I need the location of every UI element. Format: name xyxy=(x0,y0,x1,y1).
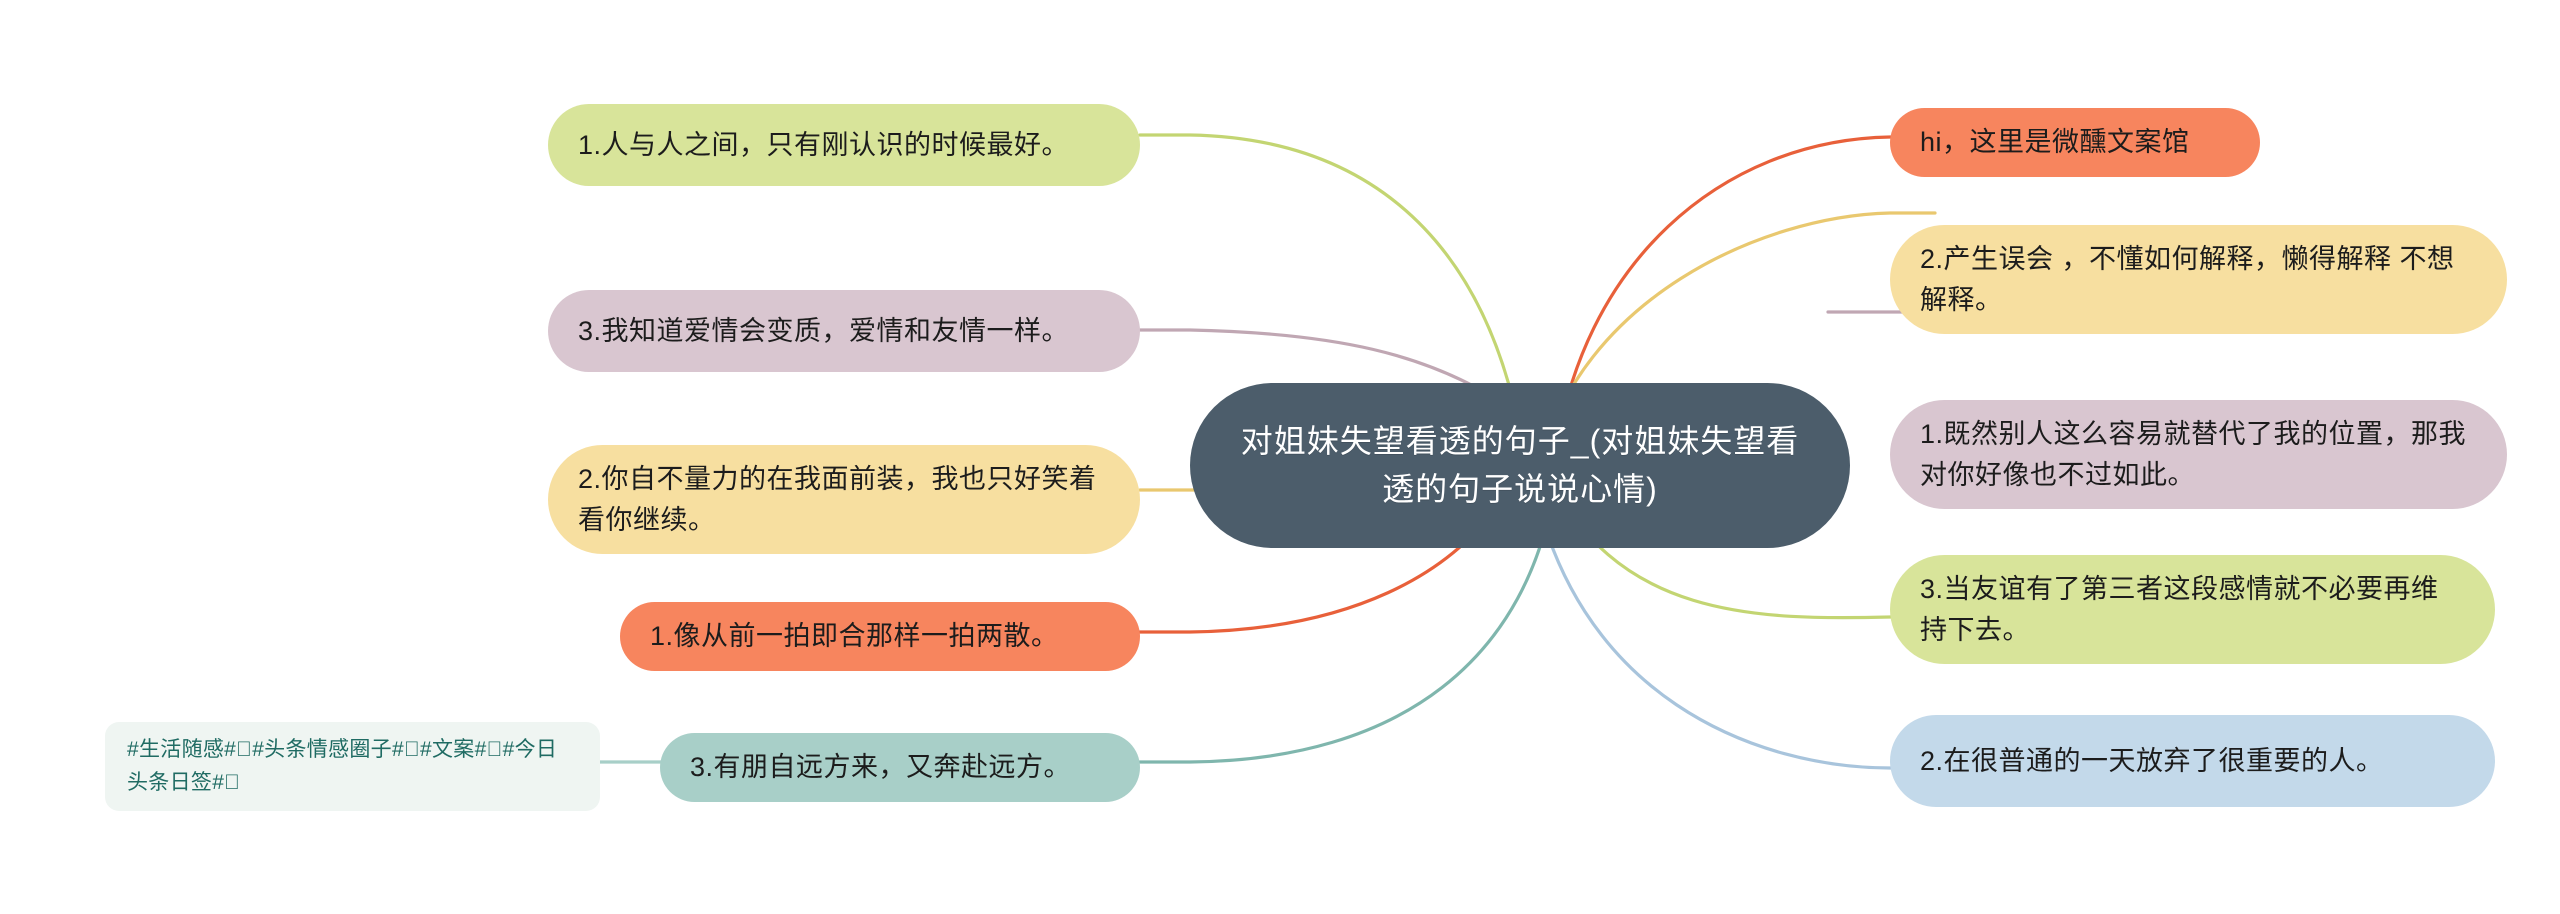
node-right-2[interactable]: 2.产生误会 ，不懂如何解释，懒得解释 不想解释。 xyxy=(1890,225,2507,334)
center-node-label: 对姐妹失望看透的句子_(对姐妹失望看透的句子说说心情) xyxy=(1232,418,1808,513)
node-right-3-label: 1.既然别人这么容易就替代了我的位置，那我对你好像也不过如此。 xyxy=(1920,414,2477,495)
node-right-5-label: 2.在很普通的一天放弃了很重要的人。 xyxy=(1920,741,2465,782)
mindmap-canvas: 1.人与人之间，只有刚认识的时候最好。 3.我知道爱情会变质，爱情和友情一样。 … xyxy=(0,0,2560,914)
node-left-1-label: 1.人与人之间，只有刚认识的时候最好。 xyxy=(578,125,1110,166)
node-right-3[interactable]: 1.既然别人这么容易就替代了我的位置，那我对你好像也不过如此。 xyxy=(1890,400,2507,509)
node-right-4-label: 3.当友谊有了第三者这段感情就不必要再维持下去。 xyxy=(1920,569,2465,650)
node-right-1[interactable]: hi，这里是微醺文案馆 xyxy=(1890,108,2260,177)
node-left-3-label: 2.你自不量力的在我面前装，我也只好笑着看你继续。 xyxy=(578,459,1110,540)
connector-left-1 xyxy=(1140,135,1513,400)
node-left-2[interactable]: 3.我知道爱情会变质，爱情和友情一样。 xyxy=(548,290,1140,372)
node-tag-1[interactable]: #生活随感#􀀀#头条情感圈子#􀀀#文案#􀀀#今日头条日签#􀀀 xyxy=(105,722,600,811)
center-node[interactable]: 对姐妹失望看透的句子_(对姐妹失望看透的句子说说心情) xyxy=(1190,383,1850,548)
node-right-2-label: 2.产生误会 ，不懂如何解释，懒得解释 不想解释。 xyxy=(1920,239,2477,320)
node-left-5-label: 3.有朋自远方来，又奔赴远方。 xyxy=(690,747,1110,788)
node-right-1-label: hi，这里是微醺文案馆 xyxy=(1920,122,2230,163)
node-left-4[interactable]: 1.像从前一拍即合那样一拍两散。 xyxy=(620,602,1140,671)
node-left-2-label: 3.我知道爱情会变质，爱情和友情一样。 xyxy=(578,311,1110,352)
node-left-1[interactable]: 1.人与人之间，只有刚认识的时候最好。 xyxy=(548,104,1140,186)
node-left-5[interactable]: 3.有朋自远方来，又奔赴远方。 xyxy=(660,733,1140,802)
node-right-4[interactable]: 3.当友谊有了第三者这段感情就不必要再维持下去。 xyxy=(1890,555,2495,664)
node-left-4-label: 1.像从前一拍即合那样一拍两散。 xyxy=(650,616,1110,657)
node-tag-1-label: #生活随感#􀀀#头条情感圈子#􀀀#文案#􀀀#今日头条日签#􀀀 xyxy=(127,734,578,799)
node-right-5[interactable]: 2.在很普通的一天放弃了很重要的人。 xyxy=(1890,715,2495,807)
node-left-3[interactable]: 2.你自不量力的在我面前装，我也只好笑着看你继续。 xyxy=(548,445,1140,554)
